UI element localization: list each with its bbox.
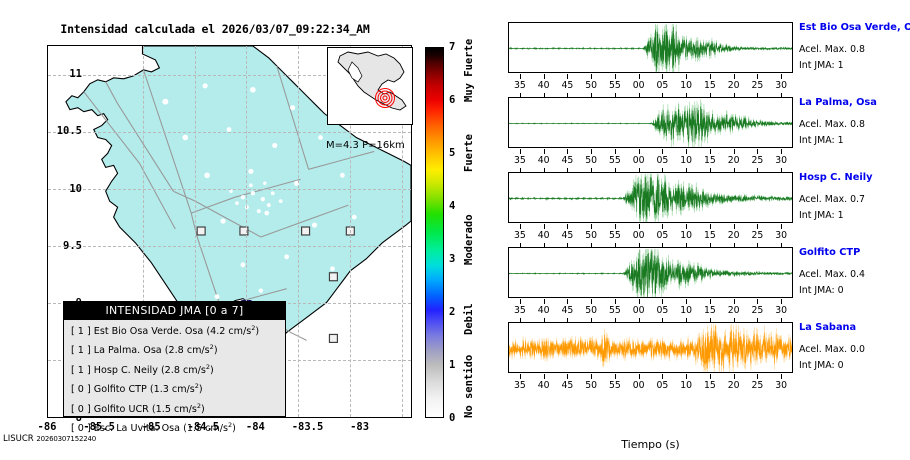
time-tick <box>544 224 545 229</box>
time-tick-label: 15 <box>704 230 716 241</box>
time-tick-label: 15 <box>704 305 716 316</box>
station-name: Hosp C. Neily <box>799 172 872 183</box>
time-tick-label: 45 <box>561 155 573 166</box>
time-tick <box>662 374 663 379</box>
time-tick <box>567 74 568 79</box>
time-tick <box>591 224 592 229</box>
station-name: Est Bio Osa Verde, Osa <box>799 22 910 33</box>
waveform <box>509 173 793 223</box>
time-tick <box>591 74 592 79</box>
time-tick-label: 15 <box>704 380 716 391</box>
time-tick <box>757 74 758 79</box>
time-tick <box>544 299 545 304</box>
time-tick-label: 55 <box>609 230 621 241</box>
time-tick <box>662 224 663 229</box>
time-tick <box>781 374 782 379</box>
time-tick <box>686 149 687 154</box>
time-tick <box>591 374 592 379</box>
time-tick-label: 45 <box>561 80 573 91</box>
time-tick-label: 35 <box>514 230 526 241</box>
time-tick-label: 20 <box>728 155 740 166</box>
time-tick <box>639 299 640 304</box>
waveform <box>509 323 793 373</box>
time-tick <box>710 74 711 79</box>
seismogram-panel: Est Bio Osa Verde, OsaAcel. Max. 0.8Int … <box>500 0 910 460</box>
inset-locator-map <box>327 47 413 125</box>
time-tick <box>639 74 640 79</box>
time-tick-label: 10 <box>680 230 692 241</box>
time-tick <box>734 224 735 229</box>
time-tick-label: 25 <box>751 380 763 391</box>
legend-row: [ 1 ] La Palma. Osa (2.8 cm/s2) <box>64 340 285 360</box>
time-tick-label: 55 <box>609 380 621 391</box>
map-title: Intensidad calculada el 2026/03/07_09:22… <box>0 22 430 36</box>
inset-landmass <box>328 48 412 124</box>
legend-row: [ 0 ] Golfito UCR (1.5 cm/s2) <box>64 398 285 418</box>
time-tick-label: 55 <box>609 80 621 91</box>
time-tick <box>781 224 782 229</box>
time-tick-label: 40 <box>538 230 550 241</box>
time-tick <box>544 374 545 379</box>
station-jma-intensity: Int JMA: 0 <box>799 360 844 371</box>
time-tick <box>710 374 711 379</box>
legend-row: [ 0 ] Esc. La Uvita. Osa (1.5 cm/s2) <box>64 418 285 438</box>
time-tick-label: 05 <box>656 80 668 91</box>
time-tick <box>757 149 758 154</box>
time-tick-label: 50 <box>585 305 597 316</box>
magnitude-depth-label: M=4.3 P=16km <box>326 140 405 151</box>
station-jma-intensity: Int JMA: 1 <box>799 135 844 146</box>
time-tick <box>757 374 758 379</box>
time-tick-label: 30 <box>775 155 787 166</box>
seismogram-trace-box <box>508 247 793 298</box>
time-tick-label: 00 <box>633 305 645 316</box>
time-tick <box>639 374 640 379</box>
time-tick-label: 30 <box>775 80 787 91</box>
station-max-acceleration: Acel. Max. 0.8 <box>799 119 865 130</box>
time-tick-label: 50 <box>585 230 597 241</box>
time-tick-label: 20 <box>728 305 740 316</box>
time-tick <box>686 224 687 229</box>
seismogram-trace-box <box>508 172 793 223</box>
legend-row: [ 1 ] Hosp C. Neily (2.8 cm/s2) <box>64 359 285 379</box>
time-tick-label: 20 <box>728 80 740 91</box>
time-tick-label: 15 <box>704 155 716 166</box>
station-jma-intensity: Int JMA: 1 <box>799 210 844 221</box>
time-tick-label: 10 <box>680 80 692 91</box>
time-tick <box>734 374 735 379</box>
waveform <box>509 23 793 73</box>
time-tick-label: 35 <box>514 305 526 316</box>
time-tick <box>520 299 521 304</box>
time-tick <box>757 299 758 304</box>
time-tick-label: 40 <box>538 155 550 166</box>
time-tick <box>639 149 640 154</box>
gridline-h <box>48 132 411 133</box>
seismogram-trace-box <box>508 322 793 373</box>
time-tick <box>520 224 521 229</box>
time-tick <box>544 74 545 79</box>
intensity-colorbar <box>425 47 444 418</box>
time-tick-label: 55 <box>609 305 621 316</box>
station-max-acceleration: Acel. Max. 0.4 <box>799 269 865 280</box>
time-tick-label: 40 <box>538 80 550 91</box>
footer-credit: LISUCR 20260307152240 <box>3 434 96 444</box>
map-panel: Intensidad calculada el 2026/03/07_09:22… <box>0 0 500 460</box>
station-max-acceleration: Acel. Max. 0.0 <box>799 344 865 355</box>
gridline-h <box>48 189 411 190</box>
time-tick <box>615 74 616 79</box>
time-tick <box>734 74 735 79</box>
station-name: Golfito CTP <box>799 247 860 258</box>
time-tick-label: 55 <box>609 155 621 166</box>
time-tick <box>567 149 568 154</box>
time-tick <box>615 299 616 304</box>
time-tick <box>710 224 711 229</box>
time-tick-label: 25 <box>751 305 763 316</box>
time-tick-label: 00 <box>633 80 645 91</box>
station-jma-intensity: Int JMA: 0 <box>799 285 844 296</box>
time-tick <box>544 149 545 154</box>
time-tick <box>615 224 616 229</box>
time-tick-label: 50 <box>585 155 597 166</box>
time-tick-label: 10 <box>680 155 692 166</box>
time-tick-label: 40 <box>538 305 550 316</box>
time-tick <box>686 74 687 79</box>
time-tick <box>662 74 663 79</box>
time-tick-label: 20 <box>728 380 740 391</box>
time-tick <box>710 149 711 154</box>
time-tick <box>567 374 568 379</box>
time-tick-label: 20 <box>728 230 740 241</box>
time-tick-label: 50 <box>585 380 597 391</box>
time-tick-label: 15 <box>704 80 716 91</box>
time-tick <box>567 299 568 304</box>
time-tick <box>615 149 616 154</box>
time-tick <box>520 149 521 154</box>
time-tick <box>567 224 568 229</box>
time-tick-label: 30 <box>775 230 787 241</box>
gridline-h <box>48 246 411 247</box>
time-tick-label: 30 <box>775 380 787 391</box>
time-tick-label: 30 <box>775 305 787 316</box>
time-tick-label: 35 <box>514 80 526 91</box>
time-tick-label: 45 <box>561 305 573 316</box>
time-tick-label: 10 <box>680 380 692 391</box>
time-tick-label: 25 <box>751 155 763 166</box>
time-tick-label: 25 <box>751 230 763 241</box>
gridline-v <box>298 46 299 417</box>
time-tick-label: 05 <box>656 230 668 241</box>
station-name: La Palma, Osa <box>799 97 877 108</box>
time-tick <box>520 74 521 79</box>
time-tick <box>781 299 782 304</box>
time-tick <box>734 149 735 154</box>
time-tick-label: 00 <box>633 155 645 166</box>
time-tick-label: 00 <box>633 380 645 391</box>
waveform <box>509 248 793 298</box>
time-tick-label: 40 <box>538 380 550 391</box>
time-tick <box>686 374 687 379</box>
time-tick <box>662 149 663 154</box>
time-tick-label: 05 <box>656 305 668 316</box>
time-axis-label: Tiempo (s) <box>508 438 793 451</box>
time-tick-label: 10 <box>680 305 692 316</box>
time-tick <box>615 374 616 379</box>
station-max-acceleration: Acel. Max. 0.7 <box>799 194 865 205</box>
time-tick <box>520 374 521 379</box>
time-tick-label: 35 <box>514 155 526 166</box>
station-max-acceleration: Acel. Max. 0.8 <box>799 44 865 55</box>
intensity-legend: INTENSIDAD JMA [0 a 7] [ 1 ] Est Bio Osa… <box>63 301 286 417</box>
station-jma-intensity: Int JMA: 1 <box>799 60 844 71</box>
legend-row: [ 0 ] Golfito CTP (1.3 cm/s2) <box>64 379 285 399</box>
time-tick-label: 45 <box>561 230 573 241</box>
time-tick <box>639 224 640 229</box>
seismogram-trace-box <box>508 97 793 148</box>
legend-row: [ 1 ] Est Bio Osa Verde. Osa (4.2 cm/s2) <box>64 320 285 340</box>
legend-title: INTENSIDAD JMA [0 a 7] <box>64 302 285 320</box>
time-tick <box>757 224 758 229</box>
time-tick <box>686 299 687 304</box>
station-name: La Sabana <box>799 322 856 333</box>
time-tick-label: 45 <box>561 380 573 391</box>
time-tick-label: 05 <box>656 380 668 391</box>
time-tick <box>781 149 782 154</box>
time-tick <box>591 299 592 304</box>
time-tick-label: 50 <box>585 80 597 91</box>
time-tick <box>781 74 782 79</box>
time-tick-label: 35 <box>514 380 526 391</box>
time-tick <box>734 299 735 304</box>
seismogram-trace-box <box>508 22 793 73</box>
time-tick-label: 05 <box>656 155 668 166</box>
waveform <box>509 98 793 148</box>
time-tick-label: 25 <box>751 80 763 91</box>
time-tick <box>662 299 663 304</box>
time-tick <box>710 299 711 304</box>
time-tick-label: 00 <box>633 230 645 241</box>
time-tick <box>591 149 592 154</box>
